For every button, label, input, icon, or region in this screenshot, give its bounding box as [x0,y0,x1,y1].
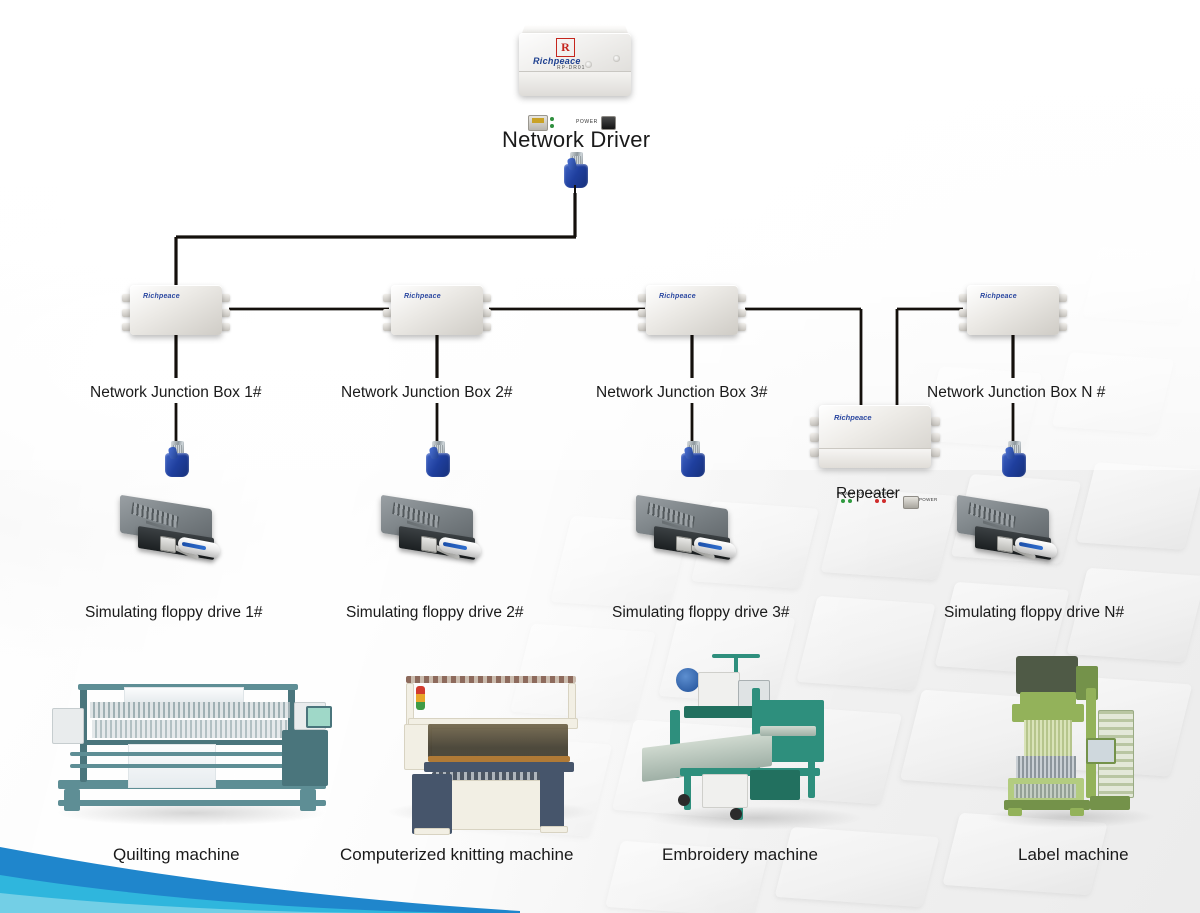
richpeace-logo-icon: R [556,38,575,57]
rj45-plug-drive-2 [423,441,453,485]
rj45-boot-icon [165,453,189,477]
floppy-drive-3-label: Simulating floppy drive 3# [612,604,790,622]
repeater-brand-label: Richpeace [834,413,872,422]
repeater-port-label: POWER [919,497,938,502]
simulating-floppy-drive-2[interactable] [381,498,493,568]
junction-box-1-label: Network Junction Box 1# [90,384,261,402]
quilting-machine-image [50,672,335,812]
diagram-canvas: R Richpeace RP-DR01 POWER Network Driver [0,0,1200,913]
floppy-drive-n-label: Simulating floppy drive N# [944,604,1124,622]
network-driver-device[interactable]: R Richpeace RP-DR01 POWER [519,33,631,105]
junction-box-2-label: Network Junction Box 2# [341,384,512,402]
junction-box-n-label: Network Junction Box N # [927,384,1105,402]
simulating-floppy-drive-n[interactable] [957,498,1069,568]
driver-led-icon [550,117,554,121]
drive-slot [421,536,437,554]
repeater-device[interactable]: Richpeace POWER ON POWER ON POWER [810,405,940,467]
embroidery-machine-image [640,648,855,813]
knitting-machine-image [390,668,595,813]
junction-box-2[interactable]: Richpeace [383,285,491,335]
rj45-plug-driver [561,152,591,196]
junction-box-brand-label: Richpeace [659,293,696,300]
rj45-tail-wire [574,185,576,197]
junction-box-brand-label: Richpeace [404,293,441,300]
drive-slot [160,536,176,554]
junction-box-3[interactable]: Richpeace [638,285,746,335]
network-driver-label: Network Driver [502,127,650,153]
screw-icon [613,55,620,62]
driver-front-panel: POWER [519,71,631,96]
repeater-front-panel: POWER ON POWER ON POWER [819,448,931,468]
driver-power-label: POWER [576,119,598,125]
driver-body: R Richpeace RP-DR01 POWER [519,33,631,95]
repeater-label: Repeater [836,485,900,503]
junction-box-n[interactable]: Richpeace [959,285,1067,335]
simulating-floppy-drive-1[interactable] [120,498,232,568]
junction-box-3-label: Network Junction Box 3# [596,384,767,402]
drive-slot [676,536,692,554]
rj45-boot-icon [681,453,705,477]
junction-box-brand-label: Richpeace [980,293,1017,300]
rj45-boot-icon [426,453,450,477]
junction-box-1[interactable]: Richpeace [122,285,230,335]
footer-blue-ribbon [0,833,1200,913]
junction-box-brand-label: Richpeace [143,293,180,300]
label-machine-image [990,650,1150,815]
drive-slot [997,536,1013,554]
floppy-drive-2-label: Simulating floppy drive 2# [346,604,524,622]
screw-icon [585,61,592,68]
rj45-boot-icon [1002,453,1026,477]
simulating-floppy-drive-3[interactable] [636,498,748,568]
floppy-drive-1-label: Simulating floppy drive 1# [85,604,263,622]
rj45-plug-drive-1 [162,441,192,485]
rj45-plug-drive-n [999,441,1029,485]
rj45-plug-drive-3 [678,441,708,485]
repeater-port[interactable] [903,496,919,509]
